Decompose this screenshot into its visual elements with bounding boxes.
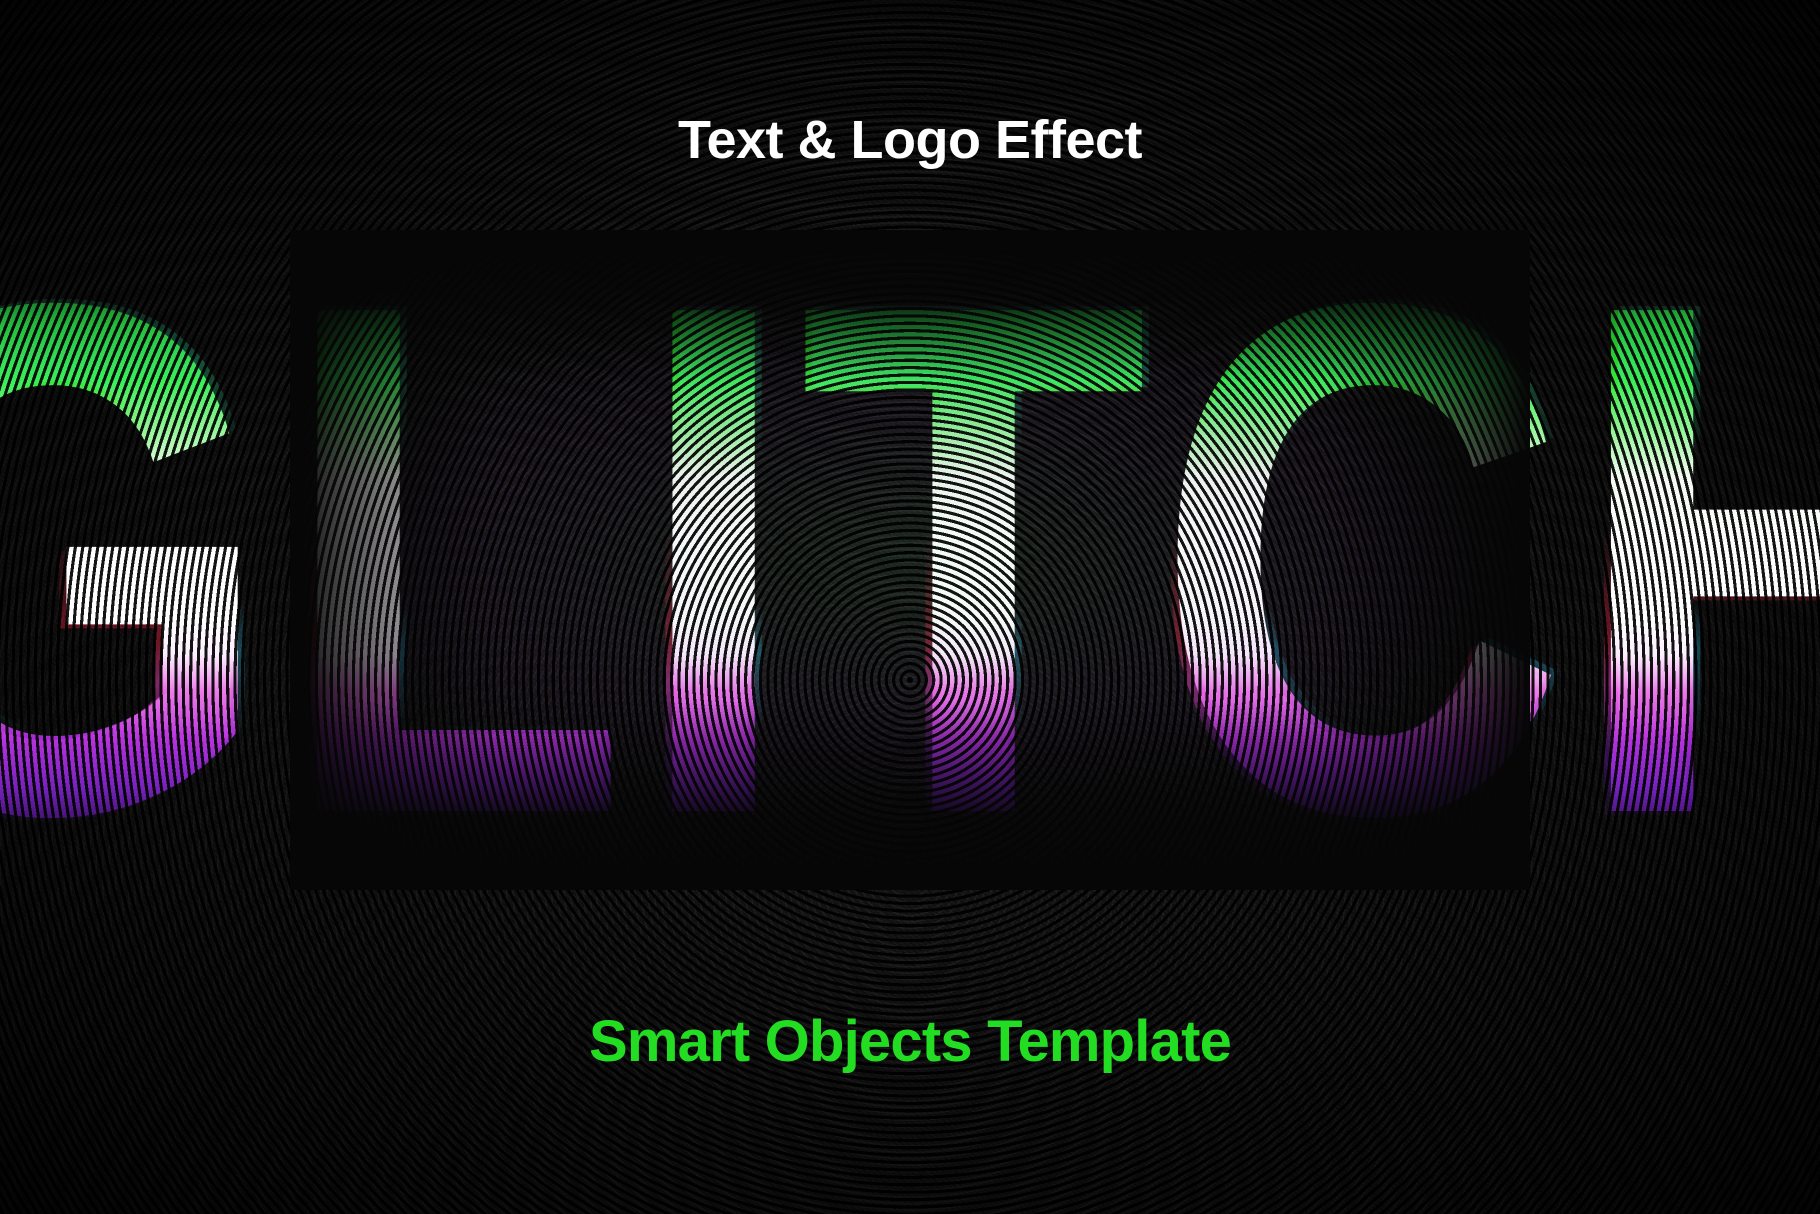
subtitle: Smart Objects Template xyxy=(0,1012,1820,1073)
glitch-wordmark-stage: GLITCH GLITCH GLITCH xyxy=(0,230,1820,890)
poster-canvas: Text & Logo Effect GLITCH GLITCH GLITCH … xyxy=(0,0,1820,1214)
glitch-word-text-cyan: GLITCH xyxy=(0,258,1820,855)
page-title: Text & Logo Effect xyxy=(0,112,1820,169)
glitch-wordmark: GLITCH GLITCH GLITCH xyxy=(290,230,1530,890)
glitch-layer-cyan-fringe: GLITCH xyxy=(297,226,1537,886)
